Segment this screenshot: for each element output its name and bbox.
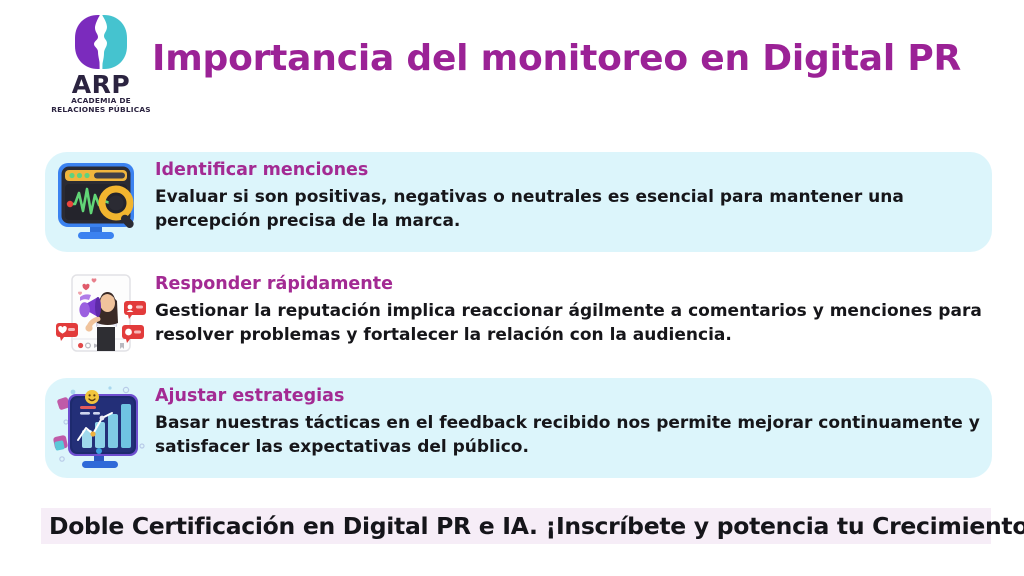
feature-card-heading: Responder rápidamente	[155, 274, 982, 295]
social-post-megaphone-icon	[45, 262, 155, 368]
feature-card-body: Ajustar estrategias Basar nuestras tácti…	[155, 378, 992, 459]
slide-header: ARP ACADEMIA DE RELACIONES PÚBLICAS Impo…	[0, 0, 1024, 128]
cta-banner-text: Doble Certificación en Digital PR e IA. …	[41, 512, 1024, 540]
cta-banner: Doble Certificación en Digital PR e IA. …	[41, 508, 991, 544]
feature-card-list: Identificar menciones Evaluar si son pos…	[0, 148, 1024, 488]
feature-card-identificar-menciones: Identificar menciones Evaluar si son pos…	[45, 152, 992, 252]
feature-card-text: Basar nuestras tácticas en el feedback r…	[155, 411, 982, 459]
feature-card-heading: Identificar menciones	[155, 160, 982, 181]
feature-card-body: Responder rápidamente Gestionar la reput…	[155, 262, 992, 347]
arp-logo-line2: RELACIONES PÚBLICAS	[51, 106, 151, 115]
monitor-bar-chart-icon	[45, 378, 155, 478]
arp-logo-wordmark: ARP	[72, 72, 130, 97]
feature-card-ajustar-estrategias: Ajustar estrategias Basar nuestras tácti…	[45, 378, 992, 478]
feature-card-responder-rapidamente: Responder rápidamente Gestionar la reput…	[45, 262, 992, 368]
feature-card-text: Evaluar si son positivas, negativas o ne…	[155, 185, 982, 233]
arp-logo: ARP ACADEMIA DE RELACIONES PÚBLICAS	[57, 14, 145, 114]
feature-card-text: Gestionar la reputación implica reaccion…	[155, 299, 982, 347]
arp-logo-mark-icon	[71, 14, 131, 70]
monitor-waveform-magnifier-icon	[45, 152, 155, 252]
page-title: Importancia del monitoreo en Digital PR	[152, 38, 992, 79]
feature-card-body: Identificar menciones Evaluar si son pos…	[155, 152, 992, 233]
feature-card-heading: Ajustar estrategias	[155, 386, 982, 407]
